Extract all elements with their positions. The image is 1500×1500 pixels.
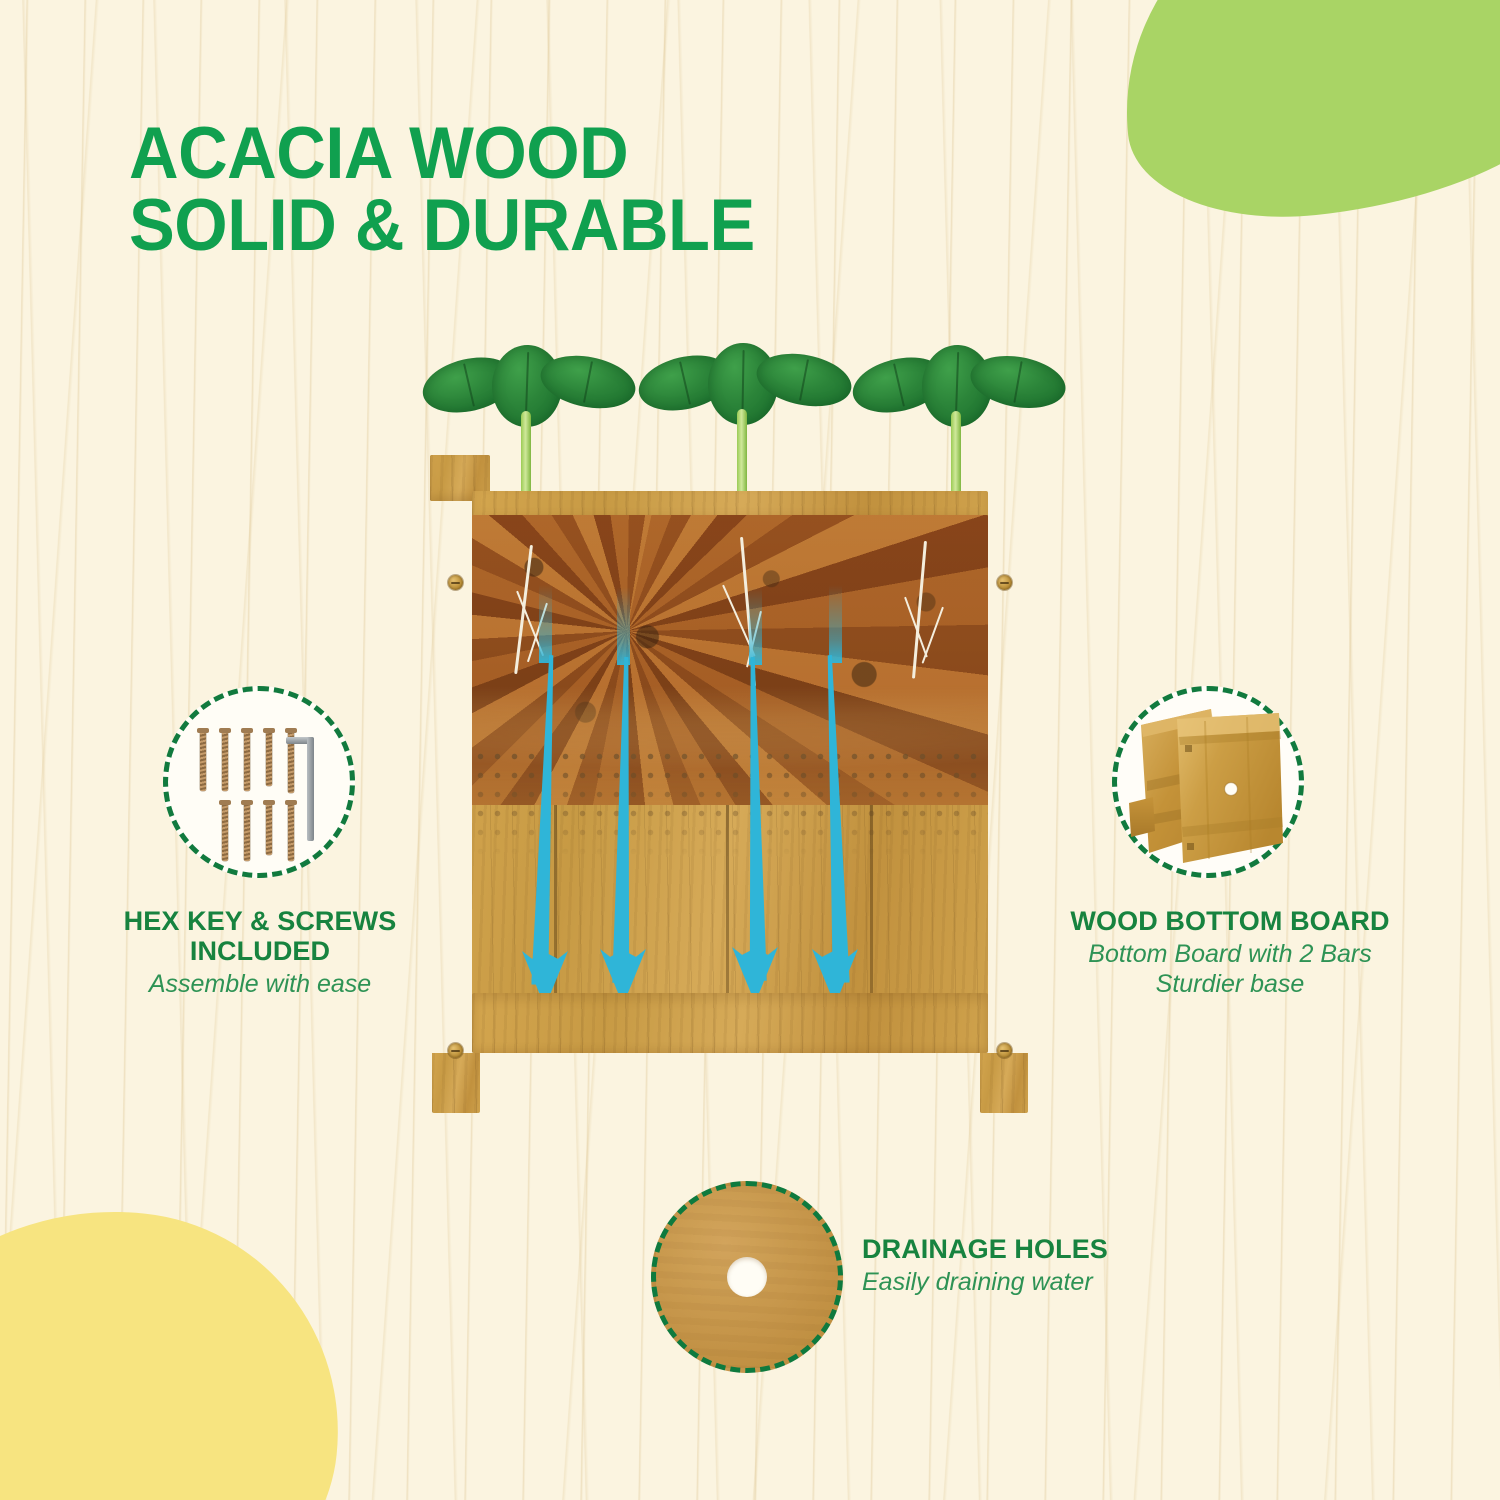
arrow-shaft — [821, 655, 849, 983]
feature-subtitle: Easily draining water — [862, 1267, 1172, 1297]
feature-caption-hex-key-screws: HEX KEY & SCREWS INCLUDED Assemble with … — [95, 906, 425, 999]
feature-circle-drainage-holes — [651, 1181, 843, 1373]
feature-circle-wood-bottom-board — [1112, 686, 1304, 878]
screw-icon — [266, 731, 272, 786]
feature-circle-hex-key-screws — [163, 686, 355, 878]
arrow-shaft — [531, 655, 560, 985]
feature-title: HEX KEY & SCREWS INCLUDED — [95, 906, 425, 966]
feature-subtitle: Bottom Board with 2 Bars Sturdier base — [1035, 939, 1425, 999]
feature-subtitle-line-2: Sturdier base — [1156, 970, 1305, 998]
planter-box-illustration — [430, 455, 1030, 1115]
arrow-shaft — [612, 657, 635, 983]
page-title-line-1: ACACIA WOOD — [129, 113, 628, 194]
screw-icon — [266, 803, 272, 855]
yellow-corner-blob — [0, 1186, 360, 1500]
screw-head — [997, 575, 1012, 590]
planter-leg-right — [980, 1053, 1028, 1113]
screw-icon — [222, 731, 228, 791]
feature-caption-drainage-holes: DRAINAGE HOLES Easily draining water — [862, 1234, 1172, 1297]
arrow-fade-tail — [539, 585, 552, 663]
green-corner-blob — [1104, 0, 1500, 234]
bottom-rail — [472, 993, 988, 1053]
page-title: ACACIA WOOD SOLID & DURABLE — [129, 118, 956, 263]
leaf-vein — [583, 361, 593, 403]
feature-caption-wood-bottom-board: WOOD BOTTOM BOARD Bottom Board with 2 Ba… — [1035, 906, 1425, 999]
screws-and-hex-key-icon — [168, 691, 350, 873]
arrow-fade-tail — [617, 587, 630, 665]
screw-icon — [244, 803, 250, 861]
screw-head — [997, 1043, 1012, 1058]
feature-title-line-1: HEX KEY & SCREWS — [124, 906, 397, 936]
arrow-fade-tail — [829, 585, 842, 663]
page-title-line-2: SOLID & DURABLE — [129, 190, 956, 262]
drainage-hole-icon — [727, 1257, 767, 1297]
feature-subtitle: Assemble with ease — [95, 969, 425, 999]
feature-title: WOOD BOTTOM BOARD — [1035, 906, 1425, 936]
leaf-vein — [799, 359, 809, 401]
feature-subtitle-line-1: Bottom Board with 2 Bars — [1088, 940, 1371, 968]
infographic-canvas: ACACIA WOOD SOLID & DURABLE — [0, 0, 1500, 1500]
leaf-vein — [679, 361, 691, 404]
screw-icon — [244, 731, 250, 791]
planter-leg-left — [432, 1053, 480, 1113]
screw-icon — [200, 731, 206, 791]
wood-bottom-board-icon — [1113, 685, 1318, 890]
feature-title-line-2: INCLUDED — [190, 936, 330, 966]
water-flow-arrow — [812, 655, 858, 1045]
arrow-shaft — [744, 657, 767, 981]
water-flow-arrow — [732, 657, 778, 1045]
water-flow-arrow — [522, 655, 568, 1045]
feature-title: DRAINAGE HOLES — [862, 1234, 1172, 1264]
screw-head — [448, 575, 463, 590]
arrow-fade-tail — [749, 587, 762, 665]
leaf-vein — [1013, 361, 1022, 403]
front-panel — [472, 515, 988, 1045]
screw-icon — [288, 803, 294, 861]
screw-head — [448, 1043, 463, 1058]
hex-key-icon — [307, 737, 314, 841]
leaf-vein — [463, 363, 475, 406]
screw-icon — [222, 803, 228, 861]
water-flow-arrow — [600, 657, 646, 1045]
leaf-vein — [893, 363, 905, 406]
